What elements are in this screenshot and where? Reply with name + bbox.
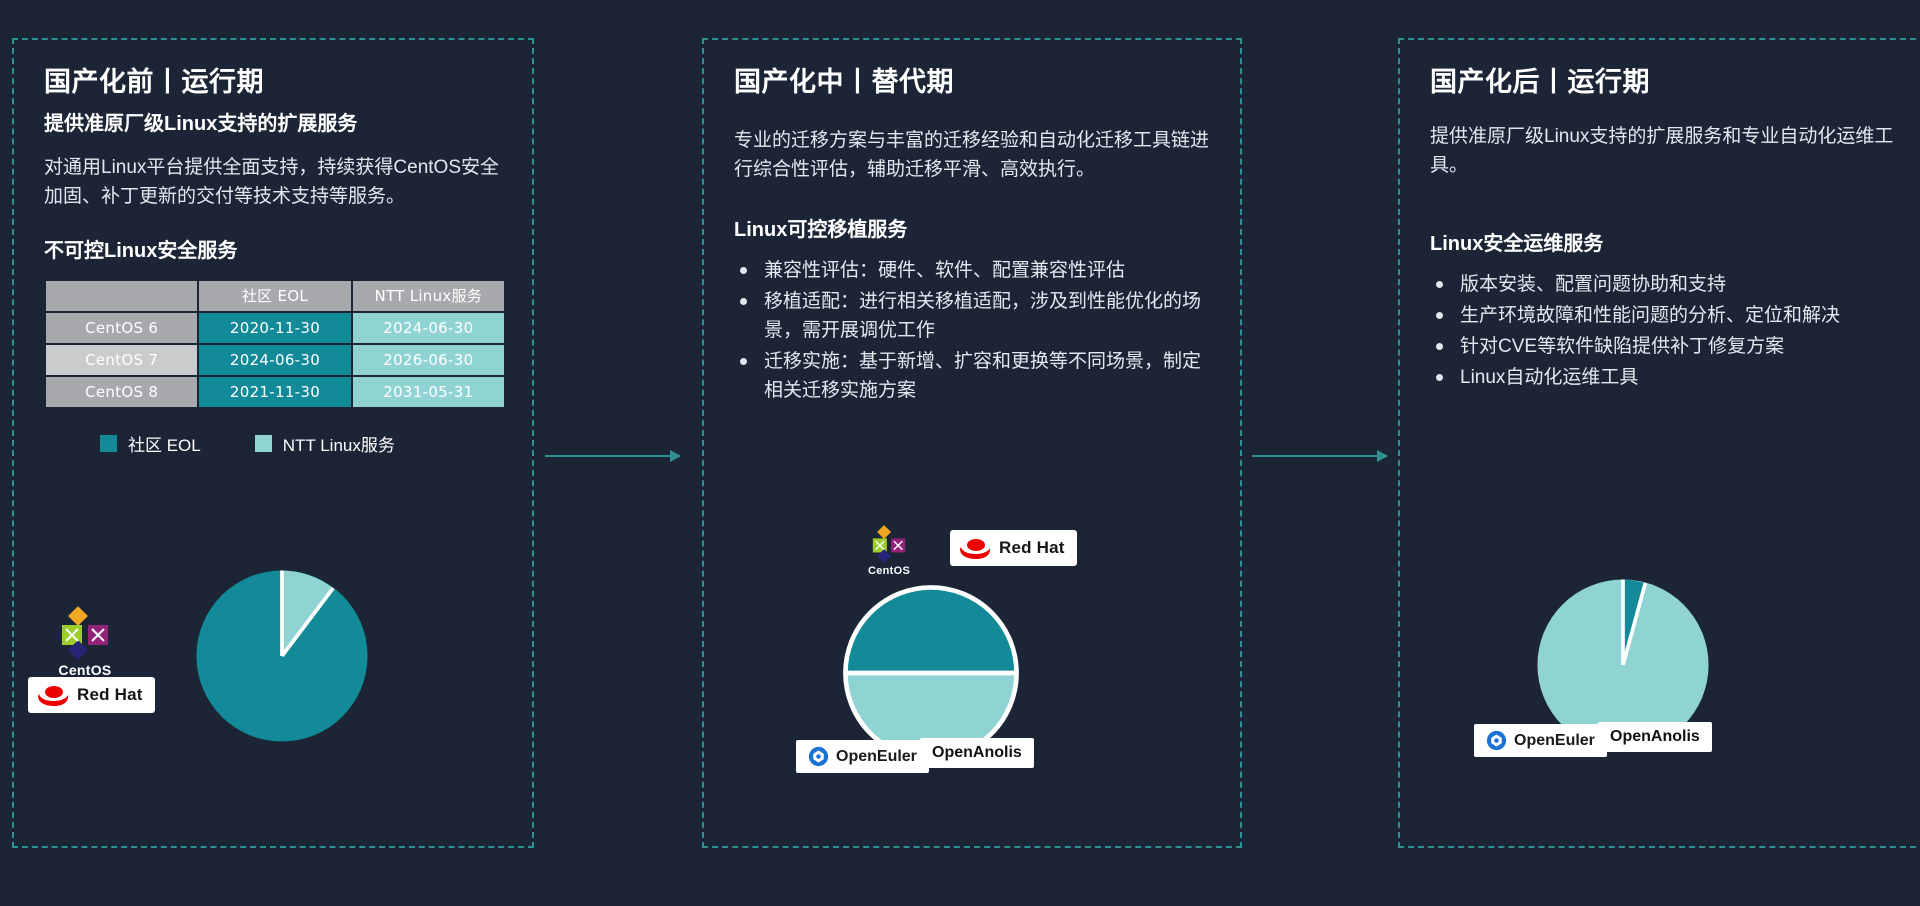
panel2-body: 专业的迁移方案与丰富的迁移经验和自动化迁移工具链进行综合性评估，辅助迁移平滑、高… — [734, 126, 1210, 185]
list-item: Linux自动化运维工具 — [1430, 363, 1894, 392]
row-os-label: CentOS 7 — [46, 345, 197, 375]
openanolis-logo-text: OpenAnolis — [1610, 728, 1700, 746]
centos-logo-text: CentOS — [868, 565, 910, 577]
panel-during-localization: 国产化中丨替代期 专业的迁移方案与丰富的迁移经验和自动化迁移工具链进行综合性评估… — [702, 38, 1242, 848]
list-item: 版本安装、配置问题协助和支持 — [1430, 270, 1894, 299]
panel1-title: 国产化前丨运行期 — [44, 66, 502, 100]
panel3-title: 国产化后丨运行期 — [1430, 66, 1894, 100]
chart-legend: 社区 EOL NTT Linux服务 — [44, 431, 502, 456]
panel3-bullet-list: 版本安装、配置问题协助和支持 生产环境故障和性能问题的分析、定位和解决 针对CV… — [1430, 270, 1894, 392]
arrow-stage1-to-stage2 — [545, 455, 680, 457]
legend-label: NTT Linux服务 — [283, 431, 395, 456]
panel3-section-heading: Linux安全运维服务 — [1430, 227, 1894, 256]
openanolis-logo: OpenAnolis — [920, 738, 1034, 768]
redhat-logo: Red Hat — [950, 530, 1077, 566]
row-os-label: CentOS 6 — [46, 313, 197, 343]
pie-chart-before — [189, 563, 375, 749]
panel3-body: 提供准原厂级Linux支持的扩展服务和专业自动化运维工具。 — [1430, 122, 1894, 181]
redhat-logo-icon — [958, 536, 992, 560]
openeuler-logo: OpenEuler — [1474, 724, 1607, 757]
legend-item-eol: 社区 EOL — [100, 431, 201, 456]
openeuler-logo-text: OpenEuler — [1514, 732, 1595, 750]
openanolis-logo: OpenAnolis — [1598, 722, 1712, 752]
table-row: CentOS 6 2020-11-30 2024-06-30 — [46, 313, 504, 343]
panel2-title: 国产化中丨替代期 — [734, 66, 1210, 100]
list-item: 兼容性评估：硬件、软件、配置兼容性评估 — [734, 256, 1210, 285]
panel2-section-heading: Linux可控移植服务 — [734, 213, 1210, 242]
legend-label: 社区 EOL — [128, 431, 201, 456]
table-header-eol: 社区 EOL — [199, 281, 350, 311]
redhat-logo-icon — [36, 683, 70, 707]
openeuler-logo-icon — [1486, 730, 1507, 751]
centos-logo: CentOS — [58, 606, 112, 678]
row-eol-date: 2024-06-30 — [199, 345, 350, 375]
panel1-body: 对通用Linux平台提供全面支持，持续获得CentOS安全加固、补丁更新的交付等… — [44, 153, 502, 212]
legend-item-ntt: NTT Linux服务 — [255, 431, 395, 456]
legend-swatch-icon — [100, 435, 117, 452]
table-header-blank — [46, 281, 197, 311]
table-header-ntt: NTT Linux服务 — [353, 281, 504, 311]
arrow-stage2-to-stage3 — [1252, 455, 1387, 457]
openeuler-logo-text: OpenEuler — [836, 748, 917, 766]
redhat-logo-text: Red Hat — [77, 685, 143, 705]
list-item: 移植适配：进行相关移植适配，涉及到性能优化的场景，需开展调优工作 — [734, 287, 1210, 345]
table-header-row: 社区 EOL NTT Linux服务 — [46, 281, 504, 311]
redhat-logo: Red Hat — [28, 677, 155, 713]
panel-before-localization: 国产化前丨运行期 提供准原厂级Linux支持的扩展服务 对通用Linux平台提供… — [12, 38, 534, 848]
openeuler-logo: OpenEuler — [796, 740, 929, 773]
row-ntt-date: 2026-06-30 — [353, 345, 504, 375]
list-item: 迁移实施：基于新增、扩容和更换等不同场景，制定相关迁移实施方案 — [734, 347, 1210, 405]
row-eol-date: 2020-11-30 — [199, 313, 350, 343]
list-item: 针对CVE等软件缺陷提供补丁修复方案 — [1430, 332, 1894, 361]
centos-logo-text: CentOS — [58, 662, 111, 678]
panel1-section-heading: 不可控Linux安全服务 — [44, 234, 502, 263]
redhat-logo-text: Red Hat — [999, 538, 1065, 558]
centos-eol-table: 社区 EOL NTT Linux服务 CentOS 6 2020-11-30 2… — [44, 279, 506, 409]
row-ntt-date: 2031-05-31 — [353, 377, 504, 407]
panel-after-localization: 国产化后丨运行期 提供准原厂级Linux支持的扩展服务和专业自动化运维工具。 L… — [1398, 38, 1920, 848]
slide-canvas: 国产化前丨运行期 提供准原厂级Linux支持的扩展服务 对通用Linux平台提供… — [0, 0, 1920, 906]
openeuler-logo-icon — [808, 746, 829, 767]
table-row: CentOS 7 2024-06-30 2026-06-30 — [46, 345, 504, 375]
centos-logo: CentOS — [868, 525, 910, 577]
openanolis-logo-text: OpenAnolis — [932, 744, 1022, 762]
row-os-label: CentOS 8 — [46, 377, 197, 407]
panel1-subtitle: 提供准原厂级Linux支持的扩展服务 — [44, 110, 502, 139]
centos-logo-icon — [870, 525, 908, 563]
row-eol-date: 2021-11-30 — [199, 377, 350, 407]
list-item: 生产环境故障和性能问题的分析、定位和解决 — [1430, 301, 1894, 330]
table-row: CentOS 8 2021-11-30 2031-05-31 — [46, 377, 504, 407]
legend-swatch-icon — [255, 435, 272, 452]
row-ntt-date: 2024-06-30 — [353, 313, 504, 343]
panel2-bullet-list: 兼容性评估：硬件、软件、配置兼容性评估 移植适配：进行相关移植适配，涉及到性能优… — [734, 256, 1210, 405]
centos-logo-icon — [58, 606, 112, 660]
